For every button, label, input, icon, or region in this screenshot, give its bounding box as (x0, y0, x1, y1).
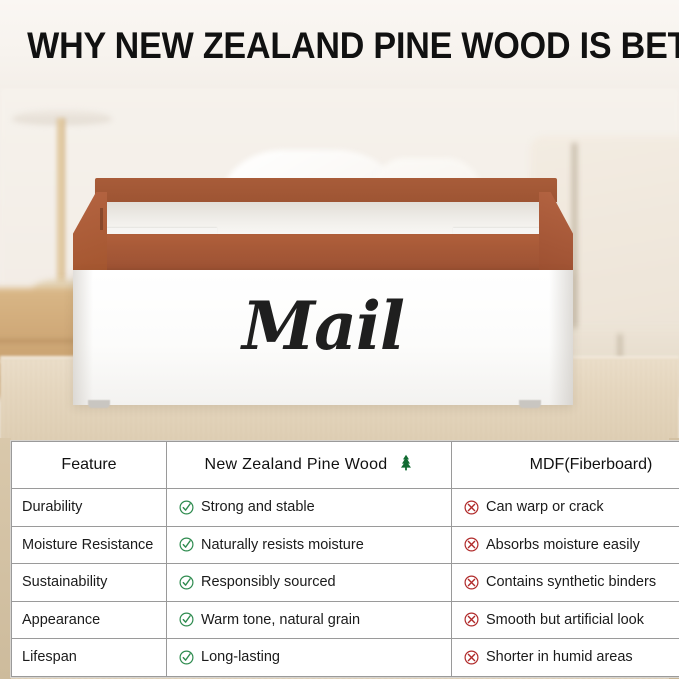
cell-pine: Naturally resists moisture (167, 526, 452, 564)
pine-tree-icon (398, 454, 414, 476)
column-header-feature: Feature (12, 442, 167, 489)
box-foot-left (88, 400, 110, 408)
nightstand-drawer-line (0, 340, 82, 342)
cell-pine-text: Warm tone, natural grain (201, 612, 360, 628)
table-row: Sustainability Responsibly sourced Conta… (12, 564, 679, 602)
cell-feature: Moisture Resistance (12, 526, 167, 564)
cell-mdf-text: Absorbs moisture easily (486, 537, 640, 553)
circled-check-icon (179, 575, 194, 590)
wood-rim-front (73, 234, 573, 272)
photo-edge-left (0, 438, 11, 679)
circled-check-icon (179, 612, 194, 627)
title-band: WHY NEW ZEALAND PINE WOOD IS BETTER (0, 0, 679, 88)
cell-mdf: Contains synthetic binders (452, 564, 679, 602)
cell-feature: Sustainability (12, 564, 167, 602)
infographic-page: Mail WHY NEW ZEALAND PINE WOOD IS BETTER… (0, 0, 679, 679)
cell-pine: Long-lasting (167, 639, 452, 677)
wood-rim-back (95, 178, 557, 204)
cell-feature: Appearance (12, 601, 167, 639)
cell-pine-text: Naturally resists moisture (201, 537, 364, 553)
cell-pine: Responsibly sourced (167, 564, 452, 602)
column-header-pine: New Zealand Pine Wood (167, 442, 452, 489)
cell-mdf: Can warp or crack (452, 489, 679, 527)
cell-mdf-text: Smooth but artificial look (486, 612, 644, 628)
cell-mdf-text: Contains synthetic binders (486, 574, 656, 590)
box-foot-right (519, 400, 541, 408)
circled-check-icon (179, 500, 194, 515)
cell-mdf: Smooth but artificial look (452, 601, 679, 639)
circled-x-icon (464, 575, 479, 590)
table-header-row: Feature New Zealand Pine Wood MDF(Fiberb… (12, 442, 679, 489)
wood-rim-right (539, 192, 573, 272)
column-header-mdf: MDF(Fiberboard) (452, 442, 679, 489)
cell-pine-text: Long-lasting (201, 649, 280, 665)
mail-box-product: Mail (73, 178, 573, 416)
circled-check-icon (179, 650, 194, 665)
product-photo: Mail (0, 88, 679, 444)
cell-pine-text: Responsibly sourced (201, 574, 336, 590)
circled-x-icon (464, 500, 479, 515)
circled-x-icon (464, 537, 479, 552)
cell-feature: Durability (12, 489, 167, 527)
cell-mdf-text: Shorter in humid areas (486, 649, 633, 665)
circled-x-icon (464, 612, 479, 627)
circled-check-icon (179, 537, 194, 552)
mail-script-label: Mail (73, 278, 573, 374)
wood-rim-left (73, 192, 107, 272)
table-body: Durability Strong and stable Can warp or… (12, 489, 679, 677)
table-header: Feature New Zealand Pine Wood MDF(Fiberb… (12, 442, 679, 489)
page-title: WHY NEW ZEALAND PINE WOOD IS BETTER (27, 24, 652, 68)
cell-pine: Strong and stable (167, 489, 452, 527)
table-row: Moisture Resistance Naturally resists mo… (12, 526, 679, 564)
cell-feature: Lifespan (12, 639, 167, 677)
comparison-table: Feature New Zealand Pine Wood MDF(Fiberb… (11, 441, 679, 677)
circled-x-icon (464, 650, 479, 665)
cell-mdf: Absorbs moisture easily (452, 526, 679, 564)
column-header-pine-label: New Zealand Pine Wood (205, 456, 388, 473)
table-row: Appearance Warm tone, natural grain Smoo… (12, 601, 679, 639)
rim-notch (100, 208, 103, 230)
cell-pine: Warm tone, natural grain (167, 601, 452, 639)
table-row: Lifespan Long-lasting Shorter in humid a… (12, 639, 679, 677)
cell-pine-text: Strong and stable (201, 499, 315, 515)
table-row: Durability Strong and stable Can warp or… (12, 489, 679, 527)
cell-mdf-text: Can warp or crack (486, 499, 604, 515)
cell-mdf: Shorter in humid areas (452, 639, 679, 677)
